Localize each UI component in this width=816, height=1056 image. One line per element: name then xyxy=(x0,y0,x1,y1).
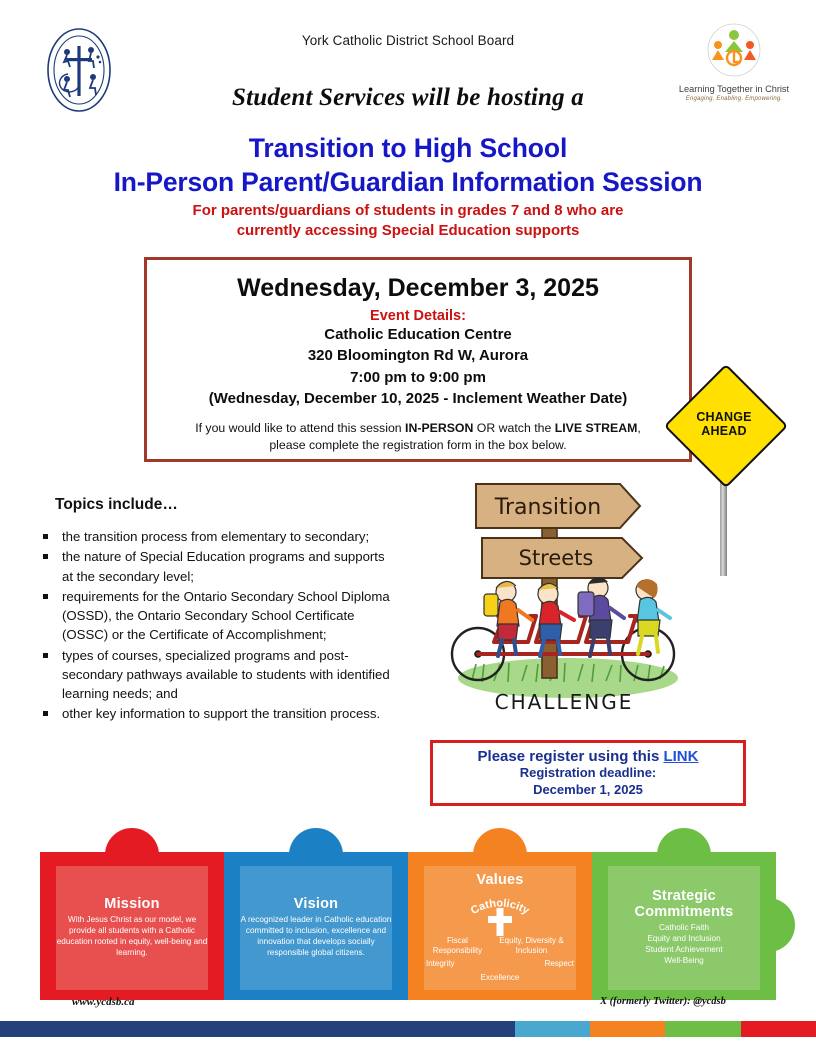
list-item: the nature of Special Education programs… xyxy=(34,547,394,586)
value-fiscal-responsibility: Fiscal Responsibility xyxy=(426,936,489,956)
puzzle-piece-mission: Mission With Jesus Christ as our model, … xyxy=(40,852,224,1000)
sign-line2: AHEAD xyxy=(701,424,746,438)
puzzle-body-text: A recognized leader in Catholic educatio… xyxy=(240,915,392,959)
hosting-line: Student Services will be hosting a xyxy=(0,84,816,112)
puzzle-body-text: With Jesus Christ as our model, we provi… xyxy=(56,915,208,959)
puzzle-inner: Mission With Jesus Christ as our model, … xyxy=(56,866,208,990)
value-equity-diversity-inclusion: Equity, Diversity & Inclusion xyxy=(489,936,574,956)
event-note-post: , xyxy=(637,421,640,435)
puzzle-title: Values xyxy=(476,873,523,889)
svg-text:CHALLENGE: CHALLENGE xyxy=(495,690,634,714)
puzzle-inner: Vision A recognized leader in Catholic e… xyxy=(240,866,392,990)
list-item: types of courses, specialized programs a… xyxy=(34,646,394,704)
color-bar-lightblue xyxy=(515,1021,590,1037)
subtitle-line2: currently accessing Special Education su… xyxy=(0,221,816,241)
puzzle-piece-vision: Vision A recognized leader in Catholic e… xyxy=(224,852,408,1000)
values-puzzle-row: Mission With Jesus Christ as our model, … xyxy=(40,828,776,1000)
values-row-1: Fiscal Responsibility Equity, Diversity … xyxy=(424,936,576,956)
register-line1: Please register using this LINK xyxy=(478,748,699,765)
page-subtitle: For parents/guardians of students in gra… xyxy=(0,201,816,241)
registration-link[interactable]: LINK xyxy=(663,748,698,765)
color-bar-green xyxy=(665,1021,741,1037)
puzzle-piece-strategic-commitments: Strategic Commitments Catholic Faith Equ… xyxy=(592,852,776,1000)
values-row-2: Integrity Respect xyxy=(424,959,576,969)
event-time: 7:00 pm to 9:00 pm xyxy=(147,367,689,388)
event-note-live-stream: LIVE STREAM xyxy=(555,421,638,435)
puzzle-inner: Values Catholicity Fiscal Responsibility… xyxy=(424,866,576,990)
registration-deadline-label: Registration deadline: xyxy=(520,765,657,782)
event-details-box: Wednesday, December 3, 2025 Event Detail… xyxy=(144,257,692,462)
event-date: Wednesday, December 3, 2025 xyxy=(147,274,689,303)
puzzle-title: Mission xyxy=(104,897,159,913)
event-alt-date: (Wednesday, December 10, 2025 - Inclemen… xyxy=(147,388,689,409)
event-address: 320 Bloomington Rd W, Aurora xyxy=(147,345,689,366)
value-excellence: Excellence xyxy=(424,973,576,983)
event-note-mid: OR watch the xyxy=(473,421,554,435)
topics-list: the transition process from elementary t… xyxy=(34,527,394,725)
list-item: the transition process from elementary t… xyxy=(34,527,394,546)
sign-line1: CHANGE xyxy=(696,410,751,424)
footer-social-handle[interactable]: X (formerly Twitter): @ycdsb xyxy=(600,996,726,1007)
footer-color-bar xyxy=(0,1021,816,1037)
page-title-line1: Transition to High School xyxy=(0,133,816,164)
color-bar-red xyxy=(741,1021,816,1037)
list-item: requirements for the Ontario Secondary S… xyxy=(34,587,394,645)
puzzle-inner: Strategic Commitments Catholic Faith Equ… xyxy=(608,866,760,990)
transition-streets-signpost-tandem-bike-icon: Transition Streets xyxy=(432,466,696,720)
registration-box[interactable]: Please register using this LINK Registra… xyxy=(430,740,746,806)
color-bar-orange xyxy=(590,1021,665,1037)
register-line1-pre: Please register using this xyxy=(478,748,664,765)
event-details-heading: Event Details: xyxy=(147,308,689,324)
puzzle-piece-values: Values Catholicity Fiscal Responsibility… xyxy=(408,852,592,1000)
event-venue: Catholic Education Centre xyxy=(147,324,689,345)
subtitle-line1: For parents/guardians of students in gra… xyxy=(0,201,816,221)
flyer-page: York Catholic District School Board Lear… xyxy=(0,0,816,1056)
puzzle-body-text: Catholic Faith Equity and Inclusion Stud… xyxy=(645,923,722,967)
event-note-line2: please complete the registration form in… xyxy=(161,437,675,454)
registration-deadline-date: December 1, 2025 xyxy=(533,782,643,799)
page-title-line2: In-Person Parent/Guardian Information Se… xyxy=(0,167,816,198)
event-note: If you would like to attend this session… xyxy=(147,420,689,454)
svg-text:Transition: Transition xyxy=(494,495,601,520)
event-note-pre: If you would like to attend this session xyxy=(195,421,405,435)
puzzle-knob-right xyxy=(757,898,795,952)
list-item: other key information to support the tra… xyxy=(34,704,394,723)
value-integrity: Integrity xyxy=(426,959,454,969)
topics-heading: Topics include… xyxy=(55,496,178,514)
value-respect: Respect xyxy=(545,959,574,969)
catholicity-arc-and-cross-icon: Catholicity xyxy=(445,892,555,936)
puzzle-title: Strategic Commitments xyxy=(608,889,760,920)
color-bar-navy xyxy=(0,1021,515,1037)
event-note-in-person: IN-PERSON xyxy=(405,421,473,435)
puzzle-title: Vision xyxy=(294,897,338,913)
sign-text: CHANGE AHEAD xyxy=(682,382,766,466)
values-grid: Fiscal Responsibility Equity, Diversity … xyxy=(424,936,576,983)
footer-website[interactable]: www.ycdsb.ca xyxy=(72,996,135,1008)
svg-text:Streets: Streets xyxy=(519,546,594,570)
